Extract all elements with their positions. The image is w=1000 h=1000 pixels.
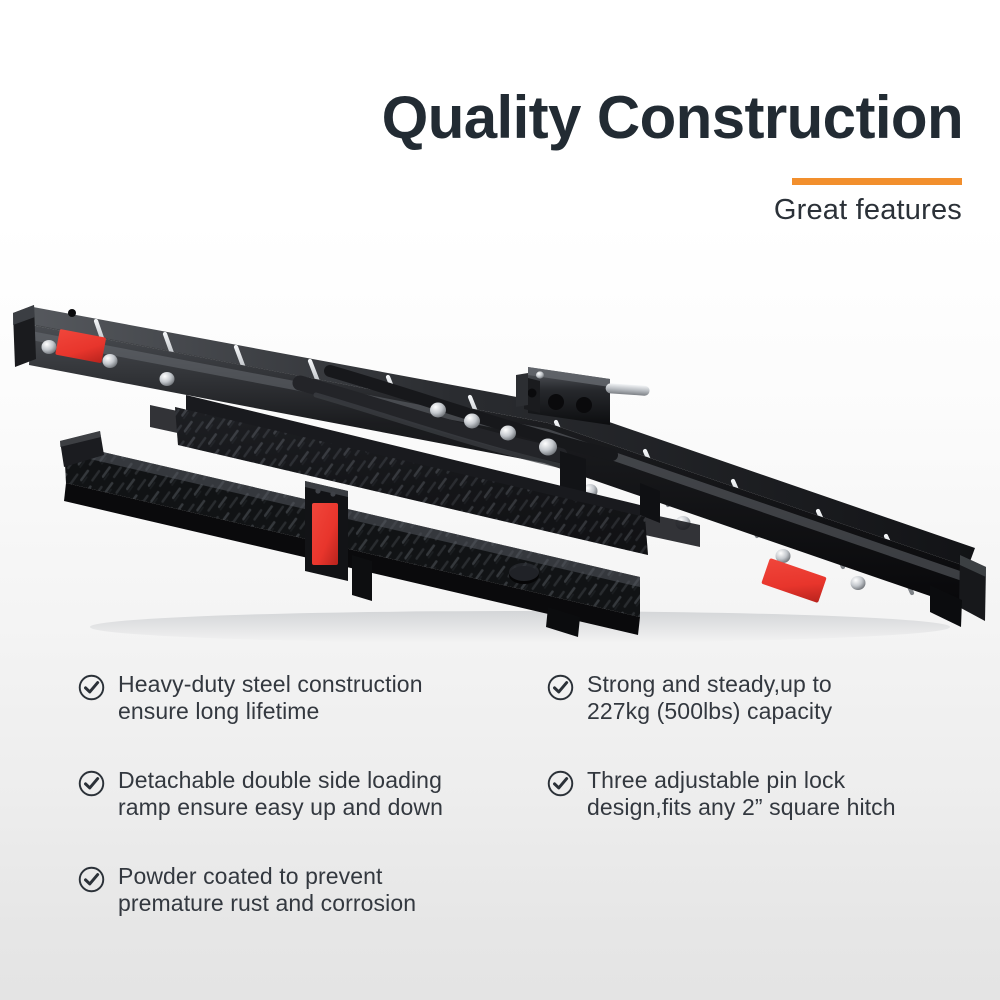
header: Quality Construction Great features	[0, 0, 1000, 250]
check-circle-icon	[78, 674, 105, 701]
hitch-pin-hole-1	[548, 394, 564, 410]
feature-text: Three adjustable pin lock design,fits an…	[587, 767, 896, 821]
feature-item-detachable-loading-ramp: Detachable double side loading ramp ensu…	[78, 767, 443, 821]
feature-item-strong-steady-capacity: Strong and steady,up to 227kg (500lbs) c…	[547, 671, 832, 725]
feature-item-three-pin-lock-design: Three adjustable pin lock design,fits an…	[547, 767, 896, 821]
center-reflector-bracket	[305, 481, 348, 581]
check-circle-icon	[78, 866, 105, 893]
features-list: Heavy-duty steel construction ensure lon…	[0, 655, 1000, 945]
accent-bar	[792, 178, 962, 185]
product-feature-page: Quality Construction Great features	[0, 0, 1000, 1000]
right-red-reflector	[761, 558, 827, 603]
left-end-cap	[13, 305, 36, 367]
feature-text: Detachable double side loading ramp ensu…	[118, 767, 443, 821]
check-circle-icon	[547, 674, 574, 701]
feature-text: Heavy-duty steel construction ensure lon…	[118, 671, 423, 725]
page-subtitle: Great features	[774, 192, 962, 228]
feature-text: Powder coated to prevent premature rust …	[118, 863, 416, 917]
product-image	[0, 255, 1000, 655]
center-red-reflector	[312, 503, 338, 565]
hitch-pin	[605, 383, 650, 396]
feature-item-powder-coated: Powder coated to prevent premature rust …	[78, 863, 416, 917]
feature-item-heavy-duty-steel: Heavy-duty steel construction ensure lon…	[78, 671, 423, 725]
check-circle-icon	[78, 770, 105, 797]
feature-text: Strong and steady,up to 227kg (500lbs) c…	[587, 671, 832, 725]
page-title: Quality Construction	[382, 86, 963, 150]
check-circle-icon	[547, 770, 574, 797]
product-shadow	[90, 611, 950, 643]
hitch-pin-hole-2	[576, 397, 592, 413]
